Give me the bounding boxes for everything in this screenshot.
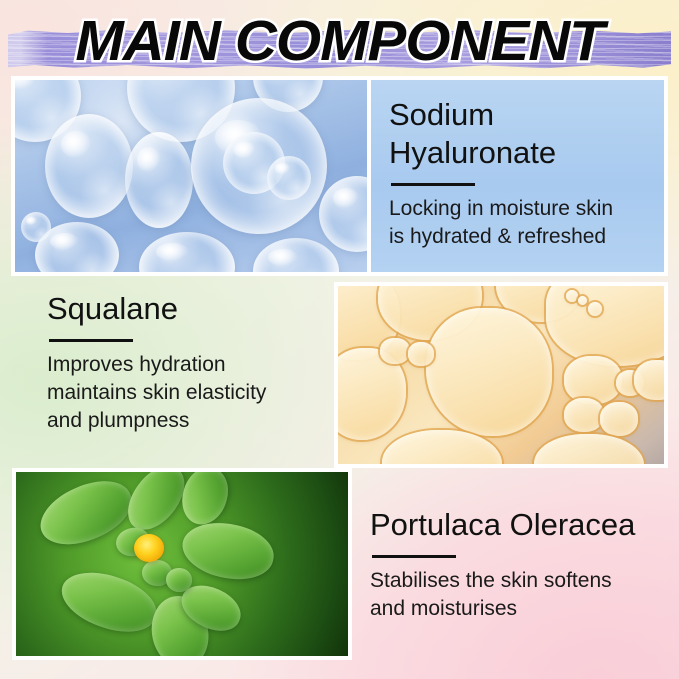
description-line2: and moisturises [370, 597, 517, 620]
ingredient-name-line2: Hyaluronate [389, 135, 556, 170]
header-banner: MAIN COMPONENT [0, 5, 679, 77]
oil-cell-shape [566, 290, 578, 302]
oil-cell-shape [600, 402, 638, 436]
description-line2: maintains skin elasticity [47, 381, 266, 404]
ingredient-name-line1: Portulaca Oleracea [370, 507, 635, 542]
purslane-plant-photo [12, 468, 352, 660]
bubble-shape [125, 132, 193, 228]
oil-cell-shape [634, 360, 668, 400]
main-component-poster: MAIN COMPONENT Sodium Hyaluronate [0, 0, 679, 679]
divider [391, 183, 475, 186]
leaf-shape [166, 568, 192, 592]
oil-cell-shape [408, 342, 434, 366]
yellow-flower-shape [134, 534, 164, 562]
bubble-shape [21, 212, 51, 242]
ingredient-name: Squalane [47, 290, 347, 328]
ingredient-card-squalane: Squalane Improves hydration maintains sk… [11, 282, 668, 468]
description-line1: Improves hydration [47, 353, 226, 376]
oil-cell-shape [578, 296, 587, 305]
ingredient-description: Locking in moisture skin is hydrated & r… [389, 195, 655, 251]
divider [372, 555, 456, 558]
ingredient-name-line1: Squalane [47, 291, 178, 326]
ingredient-text-block: Squalane Improves hydration maintains sk… [47, 290, 347, 435]
page-title: MAIN COMPONENT [0, 5, 679, 77]
ingredient-card-portulaca-oleracea: Portulaca Oleracea Stabilises the skin s… [12, 468, 668, 660]
ingredient-name: Portulaca Oleracea [370, 506, 670, 544]
ingredient-name: Sodium Hyaluronate [389, 96, 655, 172]
description-line1: Locking in moisture skin [389, 197, 613, 220]
oil-cell-shape [426, 308, 552, 436]
oil-cell-shape [564, 356, 622, 404]
ingredient-description: Improves hydration maintains skin elasti… [47, 351, 347, 435]
oil-cell-shape [380, 338, 410, 364]
divider [49, 339, 133, 342]
water-bubbles-photo [11, 76, 371, 276]
description-line2: is hydrated & refreshed [389, 225, 606, 248]
ingredient-text-block: Sodium Hyaluronate Locking in moisture s… [389, 96, 655, 251]
bubble-shape [267, 156, 311, 200]
oil-bubbles-photo [334, 282, 668, 468]
bubble-shape [45, 114, 133, 218]
oil-cell-shape [588, 302, 602, 316]
description-line1: Stabilises the skin softens [370, 569, 612, 592]
description-line3: and plumpness [47, 409, 189, 432]
oil-cell-shape [564, 398, 604, 432]
ingredient-name-line1: Sodium [389, 97, 494, 132]
ingredient-card-sodium-hyaluronate: Sodium Hyaluronate Locking in moisture s… [11, 76, 668, 276]
ingredient-text-block: Portulaca Oleracea Stabilises the skin s… [370, 506, 670, 623]
ingredient-description: Stabilises the skin softens and moisturi… [370, 567, 670, 623]
